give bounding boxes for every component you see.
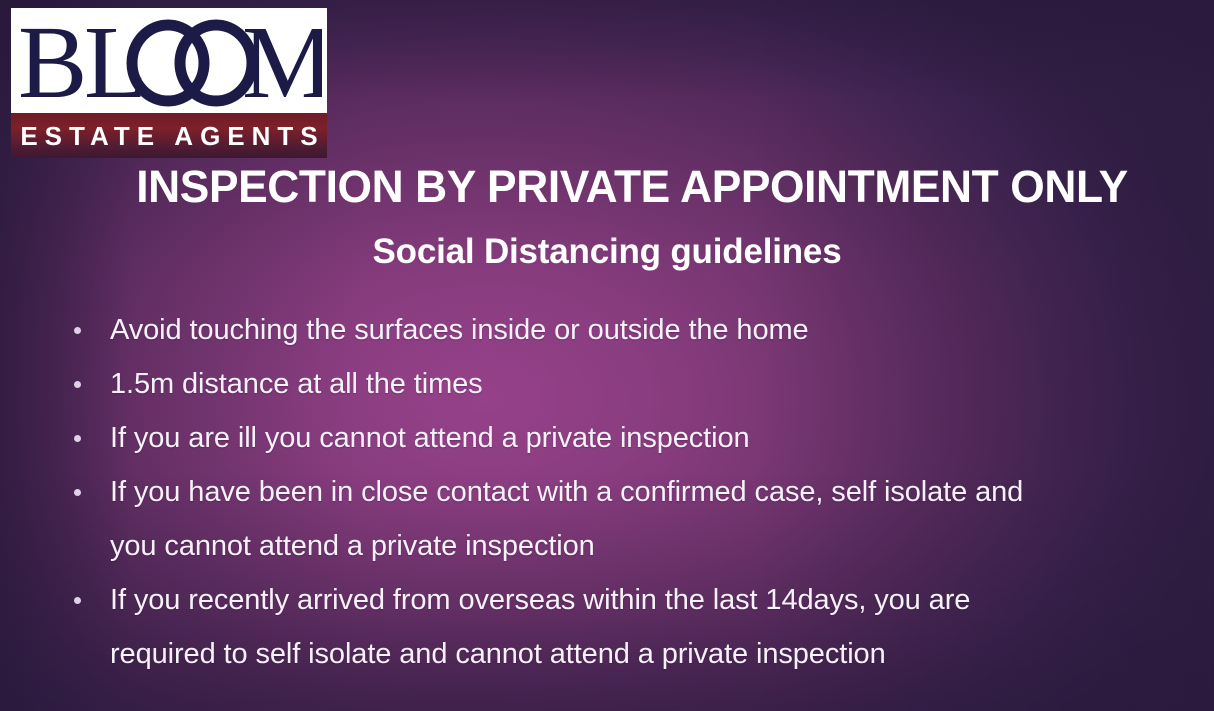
- logo-tagline-text: ESTATE AGENTS: [13, 123, 324, 149]
- list-item-text: If you have been in close contact with a…: [110, 465, 1196, 519]
- bullet-dot-icon: [74, 597, 81, 604]
- list-item-text: Avoid touching the surfaces inside or ou…: [110, 303, 1196, 357]
- slide-canvas: B L M ESTATE AGENTS INSPECTION BY PRIVAT…: [0, 0, 1214, 711]
- bullet-dot-icon: [74, 435, 81, 442]
- bloom-estate-agents-logo: B L M ESTATE AGENTS: [11, 8, 327, 158]
- list-item-continuation: required to self isolate and cannot atte…: [110, 627, 1196, 681]
- bloom-wordmark: B L M: [11, 10, 327, 115]
- bloom-letter-l: L: [84, 13, 148, 113]
- list-item-text: If you recently arrived from overseas wi…: [110, 573, 1196, 627]
- bloom-wordmark-icon: B L M: [16, 13, 322, 113]
- bloom-letter-b: B: [18, 13, 87, 113]
- bullet-dot-icon: [74, 381, 81, 388]
- list-item: Avoid touching the surfaces inside or ou…: [66, 303, 1196, 357]
- list-item: 1.5m distance at all the times: [66, 357, 1196, 411]
- headline-title: INSPECTION BY PRIVATE APPOINTMENT ONLY: [71, 163, 1194, 211]
- list-item: If you have been in close contact with a…: [66, 465, 1196, 573]
- logo-tagline-band: ESTATE AGENTS: [11, 113, 327, 158]
- list-item: If you are ill you cannot attend a priva…: [66, 411, 1196, 465]
- bullet-dot-icon: [74, 327, 81, 334]
- guidelines-list: Avoid touching the surfaces inside or ou…: [66, 303, 1196, 681]
- bullet-dot-icon: [74, 489, 81, 496]
- list-item-continuation: you cannot attend a private inspection: [110, 519, 1196, 573]
- slide-content: B L M ESTATE AGENTS INSPECTION BY PRIVAT…: [0, 0, 1214, 711]
- subheading-title: Social Distancing guidelines: [62, 233, 1152, 272]
- list-item-text: If you are ill you cannot attend a priva…: [110, 411, 1196, 465]
- list-item: If you recently arrived from overseas wi…: [66, 573, 1196, 681]
- list-item-text: 1.5m distance at all the times: [110, 357, 1196, 411]
